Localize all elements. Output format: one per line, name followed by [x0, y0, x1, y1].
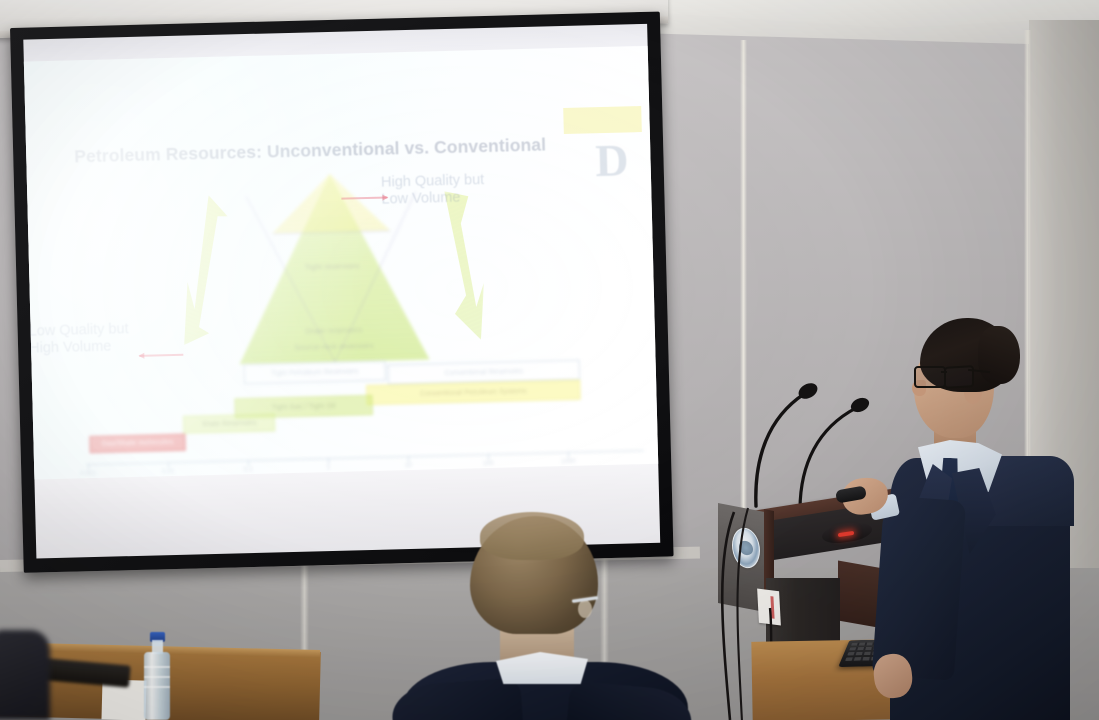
presenter-arm: [872, 495, 966, 680]
eyeglasses-icon: [914, 366, 980, 386]
pyramid-arrow-right: [426, 190, 486, 342]
presenter-hair-back: [978, 326, 1020, 384]
chart-box-tight-petroleum: Tight Petroleum Reservoirs: [244, 361, 386, 385]
chart-box-shale: Shale Reservoirs: [183, 413, 275, 433]
presenter-figure: [860, 318, 1090, 720]
callout-high-quality-line2: Low Volume: [381, 189, 485, 209]
projection-screen: Petroleum Resources: Unconventional vs. …: [10, 12, 674, 573]
axis-tick-label: 0.001: [80, 470, 96, 477]
axis-tick-label: 1: [326, 464, 330, 471]
axis-tick-label: 0.01: [162, 468, 175, 475]
bottle-ridge: [144, 666, 170, 668]
axis-tick-label: 10: [404, 462, 411, 469]
axis-tick-label: 100: [483, 460, 494, 467]
callout-low-quality-line1: Low Quality but: [28, 321, 128, 341]
chart-axis-title: Pore Throat and Molecule Size (micron): [229, 477, 362, 479]
glasses-bridge: [941, 371, 947, 373]
slide-logo-letter: D: [595, 140, 629, 181]
presentation-photo-scene: Petroleum Resources: Unconventional vs. …: [0, 0, 1099, 720]
glasses-lens-left: [914, 366, 946, 388]
axis-tick-label: 1000: [561, 458, 576, 465]
attendee-hair-highlight: [480, 512, 584, 560]
bottle-ridge: [144, 676, 170, 678]
screen-surface: Petroleum Resources: Unconventional vs. …: [23, 24, 660, 559]
callout-low-quality: Low Quality but High Volume: [28, 321, 129, 358]
projected-slide: Petroleum Resources: Unconventional vs. …: [24, 46, 658, 480]
slide-logo-band: [563, 106, 642, 134]
water-bottle-left: [144, 632, 170, 720]
attendee-ear: [578, 600, 592, 618]
callout-arrow-left-icon: [139, 354, 183, 357]
slide-title: Petroleum Resources: Unconventional vs. …: [74, 134, 546, 167]
chart-box-conventional-systems: Conventional Petroleum Systems: [366, 380, 580, 405]
axis-tick-label: 0.1: [244, 466, 253, 473]
audience-member: [392, 516, 688, 720]
callout-low-quality-line2: High Volume: [29, 338, 129, 358]
pyramid-arrow-left: [180, 195, 227, 345]
bottle-ridge: [144, 686, 170, 688]
callout-high-quality: High Quality but Low Volume: [381, 172, 485, 209]
callout-high-quality-line1: High Quality but: [381, 172, 485, 192]
bottle-body: [144, 652, 170, 720]
chart-box-gas-shale-molecules: Gas/Shale molecules: [89, 434, 185, 453]
foreground-occluder: [0, 630, 50, 720]
resource-size-chart: Tight Petroleum Reservoirs Conventional …: [55, 346, 648, 479]
